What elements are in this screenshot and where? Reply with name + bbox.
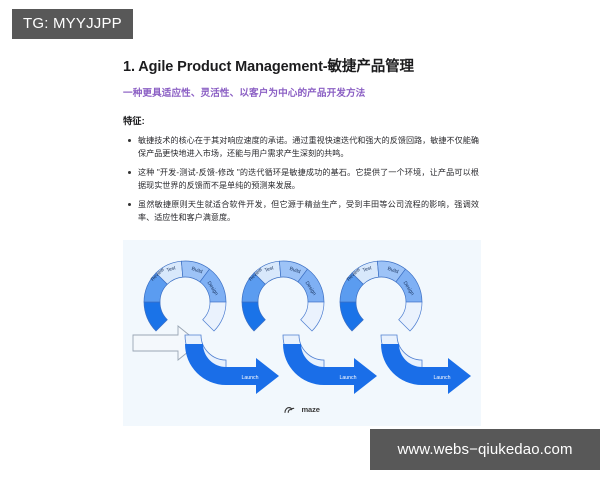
telegram-badge: TG: MYYJJPP: [12, 9, 133, 39]
maze-cloud-icon: [284, 406, 296, 414]
maze-logo: maze: [123, 405, 481, 414]
document-content: 1. Agile Product Management-敏捷产品管理 一种更具适…: [123, 58, 481, 230]
list-item: 这种 "开发-测试-反馈-修改 "的迭代循环是敏捷成功的基石。它提供了一个环境，…: [138, 166, 481, 192]
launch-label: Launch: [433, 375, 450, 381]
list-item: 敏捷技术的核心在于其对响应速度的承诺。通过重视快速迭代和强大的反馈回路，敏捷不仅…: [138, 134, 481, 160]
donut-1: Review Test Build Design: [144, 261, 226, 331]
agile-cycle-diagram: Launch Review Test: [123, 240, 481, 426]
launch-label: Launch: [241, 375, 258, 381]
list-item: 虽然敏捷原则天生就适合软件开发，但它源于精益生产，受到丰田等公司流程的影响，强调…: [138, 198, 481, 224]
features-label: 特征:: [123, 115, 481, 127]
donut-3: Review Test Build Design: [340, 261, 422, 331]
site-watermark: www.webs−qiukedao.com: [370, 429, 600, 470]
maze-wordmark: maze: [301, 405, 319, 414]
donut-2: Review Test Build Design: [242, 261, 324, 331]
features-list: 敏捷技术的核心在于其对响应速度的承诺。通过重视快速迭代和强大的反馈回路，敏捷不仅…: [123, 134, 481, 225]
agile-cycle-svg: Launch Review Test: [123, 240, 481, 426]
page-subtitle: 一种更具适应性、灵活性、以客户为中心的产品开发方法: [123, 87, 481, 100]
document-page: 1. Agile Product Management-敏捷产品管理 一种更具适…: [0, 0, 600, 480]
page-title: 1. Agile Product Management-敏捷产品管理: [123, 58, 481, 76]
launch-label: Launch: [339, 375, 356, 381]
